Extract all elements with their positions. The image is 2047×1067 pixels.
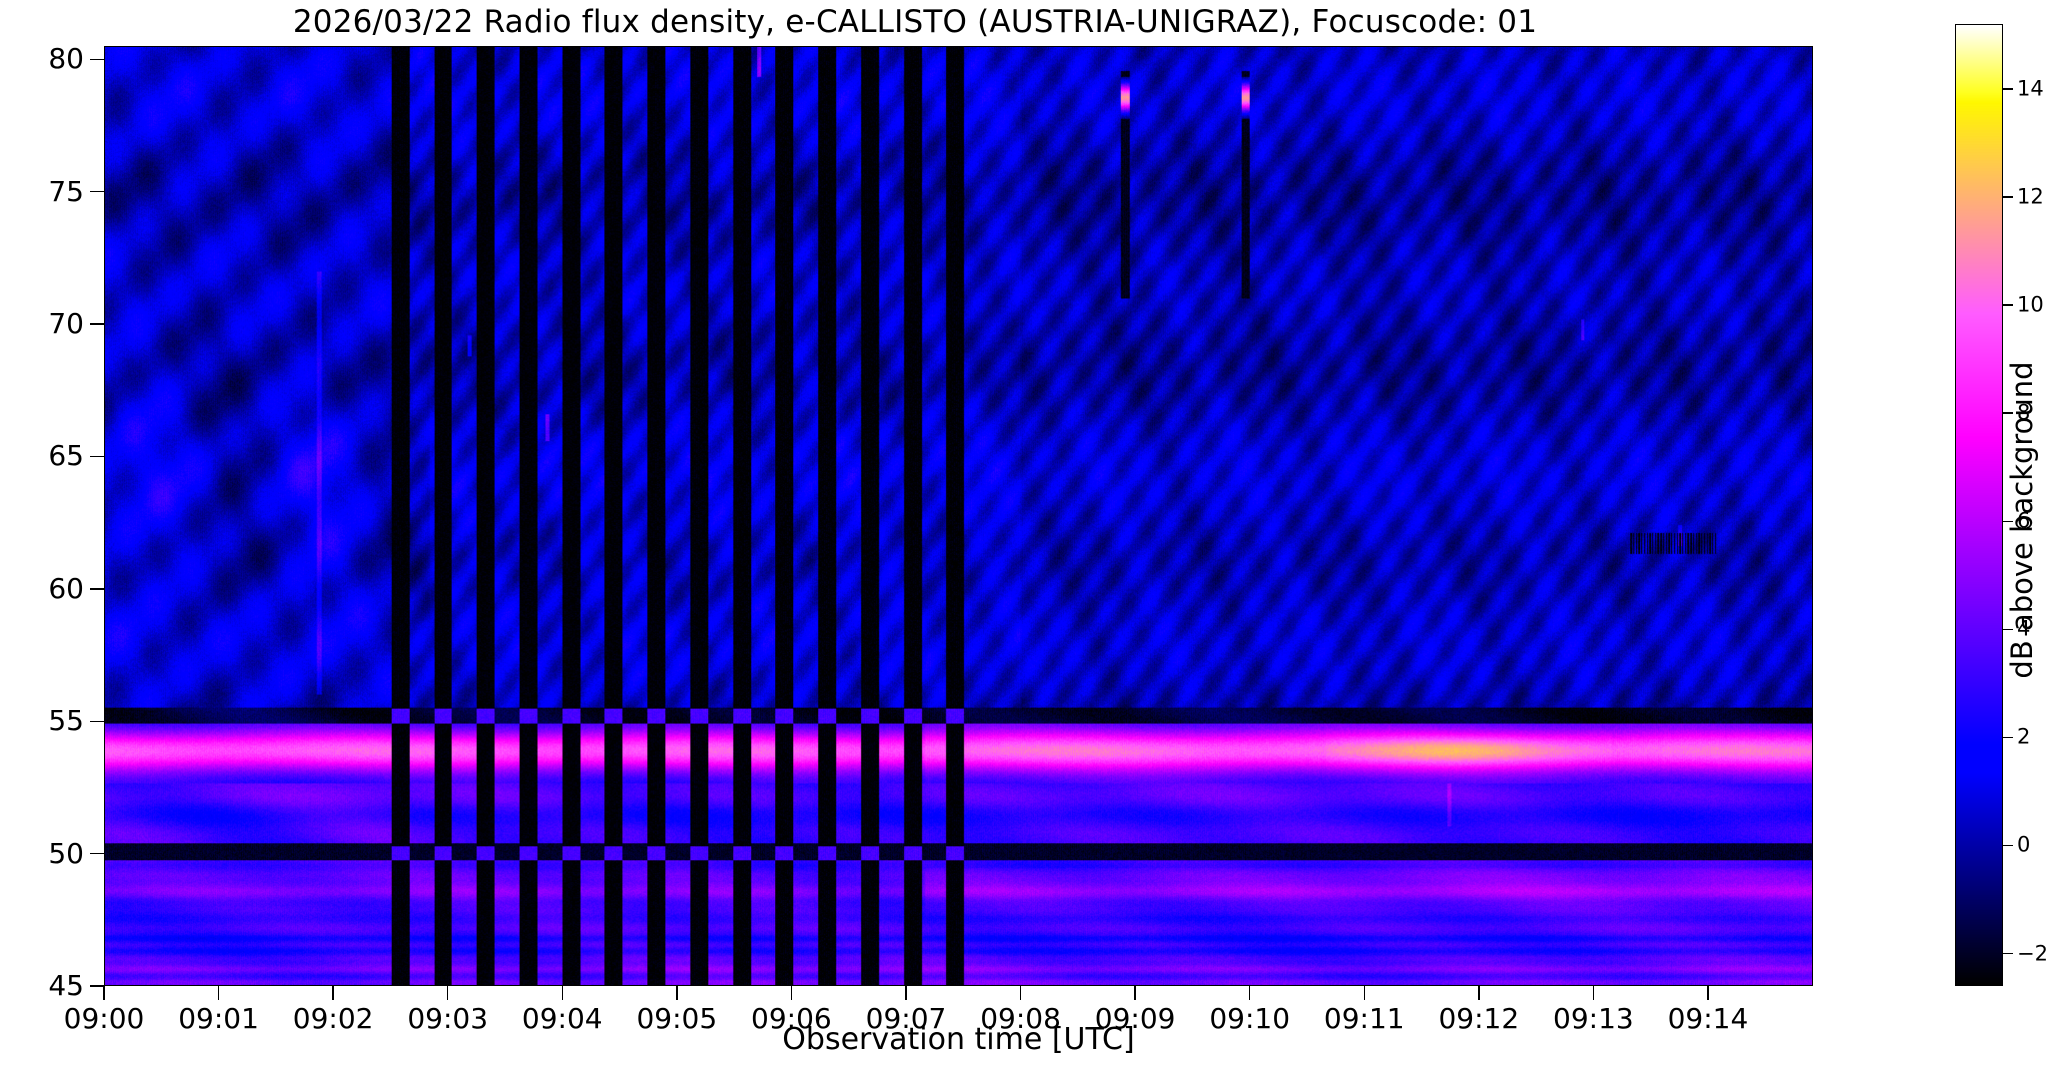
colorbar-tick-mark: [2003, 196, 2013, 197]
colorbar-tick-label: 0: [2017, 835, 2030, 856]
spectrogram-plot-area[interactable]: [104, 46, 1813, 986]
y-tick-mark: [90, 588, 104, 589]
colorbar-tick-mark: [2003, 953, 2013, 954]
y-tick-label: 80: [6, 45, 84, 73]
x-tick-mark: [562, 986, 563, 1000]
dynamic-spectrum-canvas[interactable]: [105, 47, 1812, 985]
page-title: 2026/03/22 Radio flux density, e-CALLIST…: [0, 4, 1830, 40]
spectrogram-figure: 2026/03/22 Radio flux density, e-CALLIST…: [0, 0, 2047, 1067]
x-tick-mark: [1020, 986, 1021, 1000]
colorbar-tick-mark: [2003, 737, 2013, 738]
colorbar-tick-label: 2: [2017, 727, 2030, 748]
x-tick-mark: [103, 986, 104, 1000]
y-tick-label: 45: [6, 972, 84, 1000]
y-tick-label: 55: [6, 707, 84, 735]
y-tick-mark: [90, 721, 104, 722]
x-tick-mark: [1364, 986, 1365, 1000]
x-tick-mark: [1249, 986, 1250, 1000]
y-tick-label: 60: [6, 575, 84, 603]
x-tick-mark: [1707, 986, 1708, 1000]
y-tick-mark: [90, 456, 104, 457]
colorbar-label: dB above background: [2005, 361, 2039, 678]
y-tick-label: 75: [6, 178, 84, 206]
y-tick-mark: [90, 59, 104, 60]
y-tick-label: 65: [6, 442, 84, 470]
x-tick-mark: [1593, 986, 1594, 1000]
y-tick-mark: [90, 985, 104, 986]
x-tick-mark: [676, 986, 677, 1000]
x-tick-mark: [218, 986, 219, 1000]
x-tick-mark: [332, 986, 333, 1000]
colorbar-gradient: [1956, 25, 2002, 985]
colorbar-tick-label: 14: [2017, 78, 2044, 99]
colorbar-tick-mark: [2003, 845, 2013, 846]
x-axis-label: Observation time [UTC]: [104, 1022, 1813, 1057]
y-tick-mark: [90, 853, 104, 854]
y-tick-mark: [90, 323, 104, 324]
colorbar-tick-mark: [2003, 88, 2013, 89]
x-tick-mark: [905, 986, 906, 1000]
colorbar-tick-label: 10: [2017, 295, 2044, 316]
x-tick-mark: [447, 986, 448, 1000]
x-tick-mark: [1134, 986, 1135, 1000]
x-tick-mark: [791, 986, 792, 1000]
y-tick-label: 70: [6, 310, 84, 338]
colorbar-tick-label: 12: [2017, 186, 2044, 207]
colorbar-tick-mark: [2003, 304, 2013, 305]
y-tick-mark: [90, 191, 104, 192]
x-tick-mark: [1478, 986, 1479, 1000]
colorbar[interactable]: [1955, 24, 2003, 986]
colorbar-tick-label: −2: [2017, 943, 2047, 964]
y-tick-label: 50: [6, 840, 84, 868]
